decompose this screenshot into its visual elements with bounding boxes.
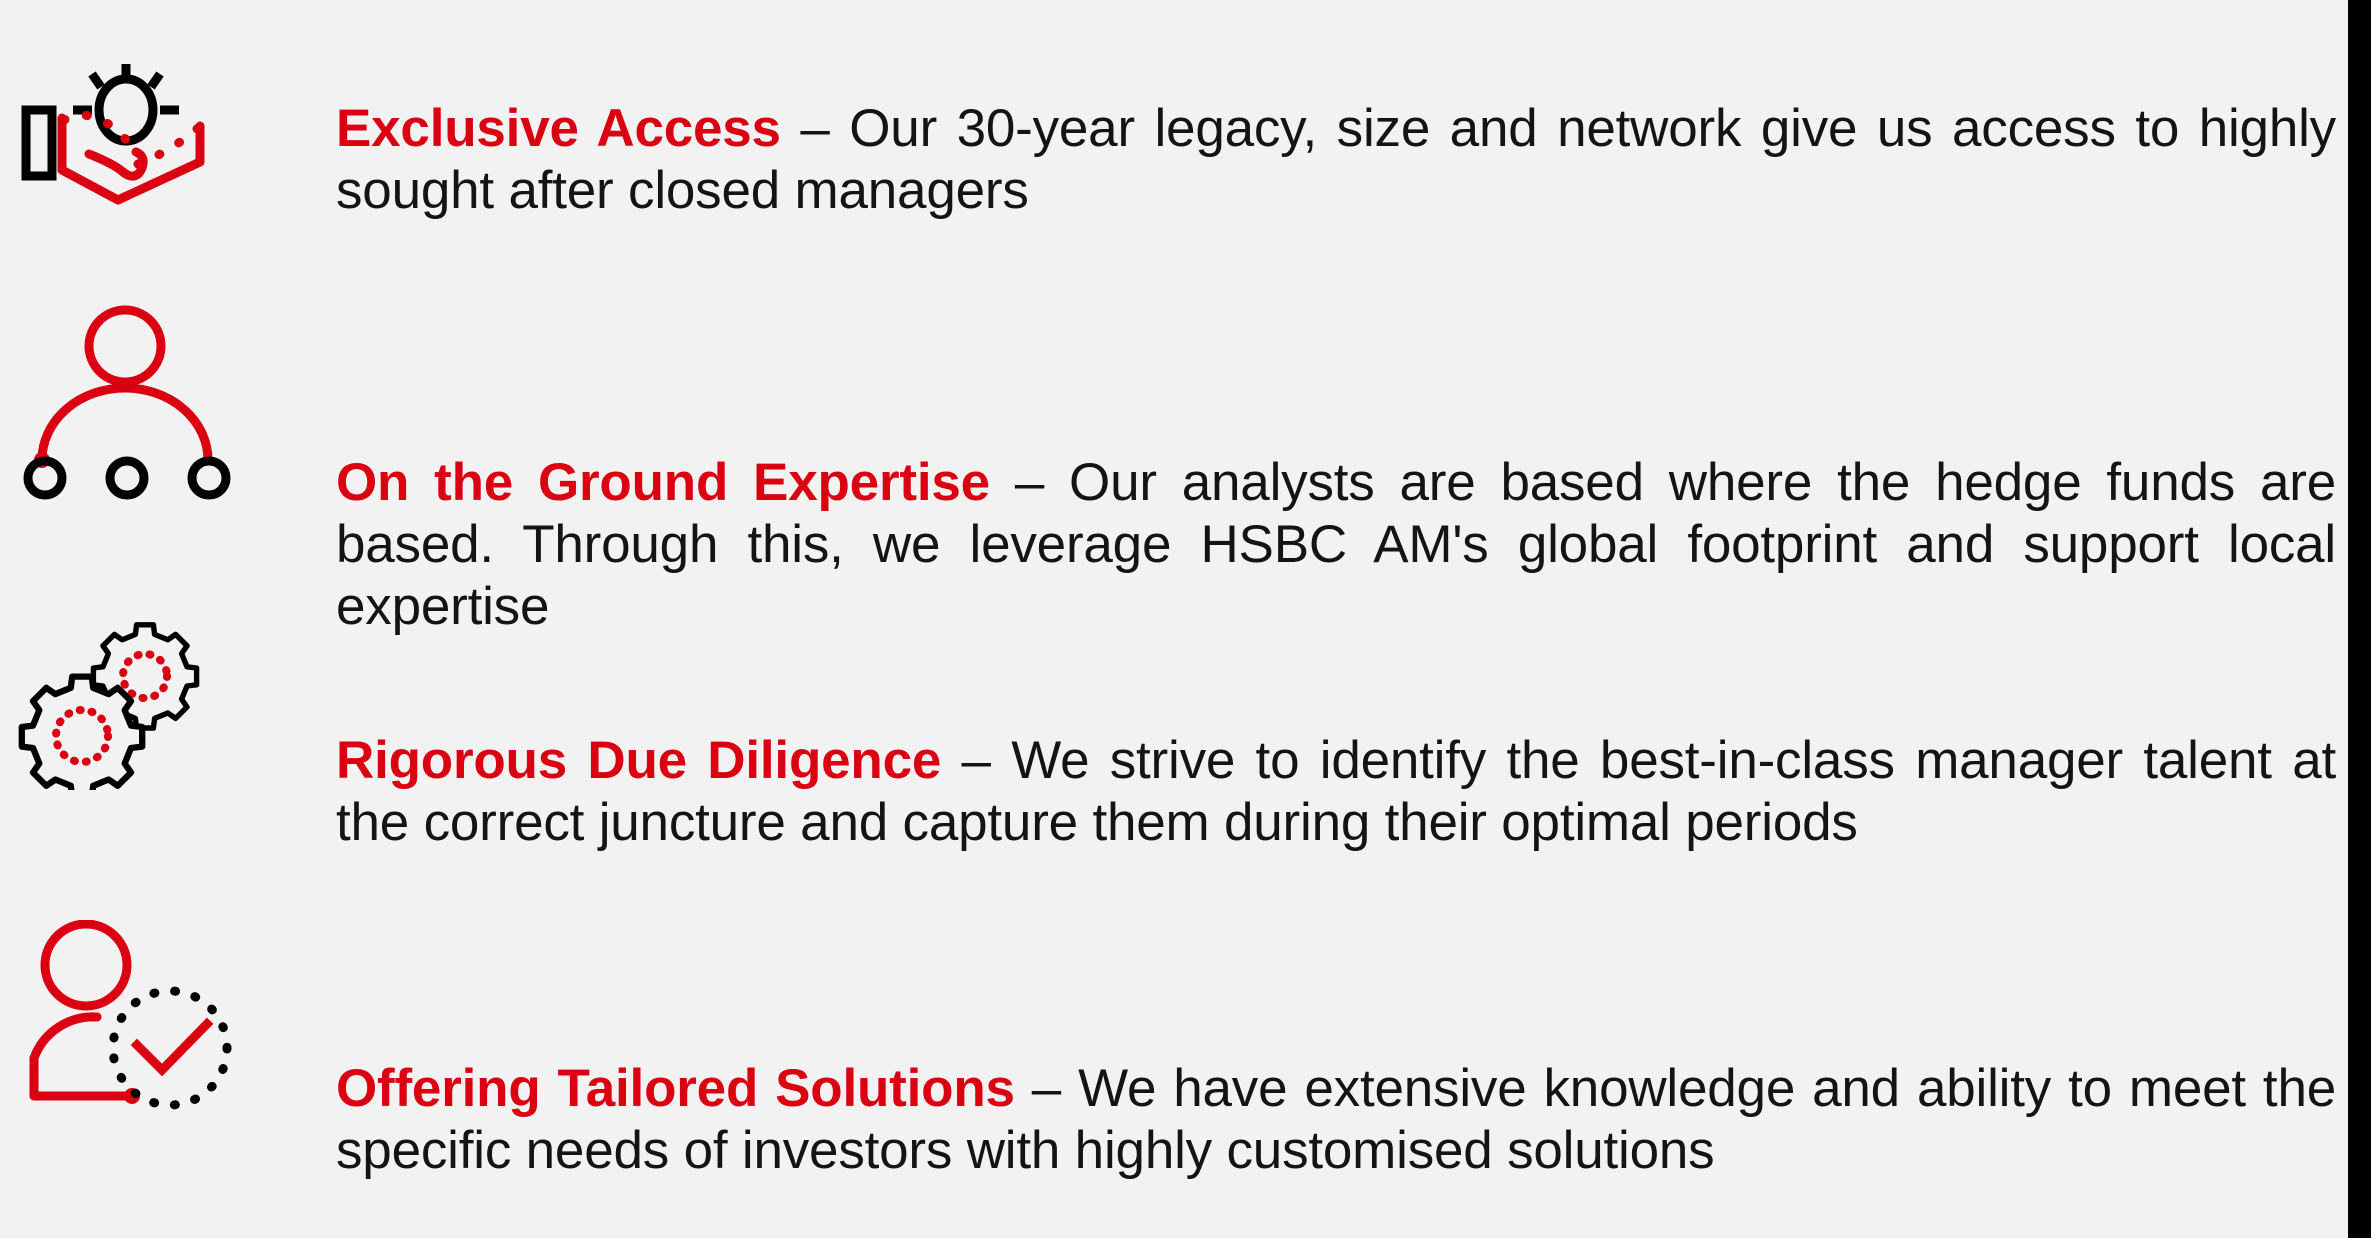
bullet-text: Offering Tailored Solutions – We have ex…	[336, 1058, 2336, 1182]
bullet-headline: Offering Tailored Solutions	[336, 1059, 1015, 1118]
bullet-headline: Exclusive Access	[336, 99, 781, 158]
bullet-separator: –	[1015, 1059, 1078, 1118]
bullet-separator: –	[990, 453, 1069, 512]
bullet-text: Exclusive Access – Our 30-year legacy, s…	[336, 98, 2336, 222]
hand-holding-lightbulb-icon	[10, 60, 280, 220]
bullet-headline: Rigorous Due Diligence	[336, 731, 941, 790]
people-group-icon	[10, 300, 280, 500]
right-edge-bar	[2348, 0, 2371, 1238]
gears-icon	[10, 600, 280, 790]
person-checkmark-icon	[10, 920, 280, 1110]
bullet-text: On the Ground Expertise – Our analysts a…	[336, 452, 2336, 638]
bullet-headline: On the Ground Expertise	[336, 453, 990, 512]
slide-canvas: Exclusive Access – Our 30-year legacy, s…	[0, 0, 2371, 1238]
bullet-separator: –	[781, 99, 849, 158]
bullet-separator: –	[941, 731, 1011, 790]
bullet-text: Rigorous Due Diligence – We strive to id…	[336, 730, 2336, 854]
